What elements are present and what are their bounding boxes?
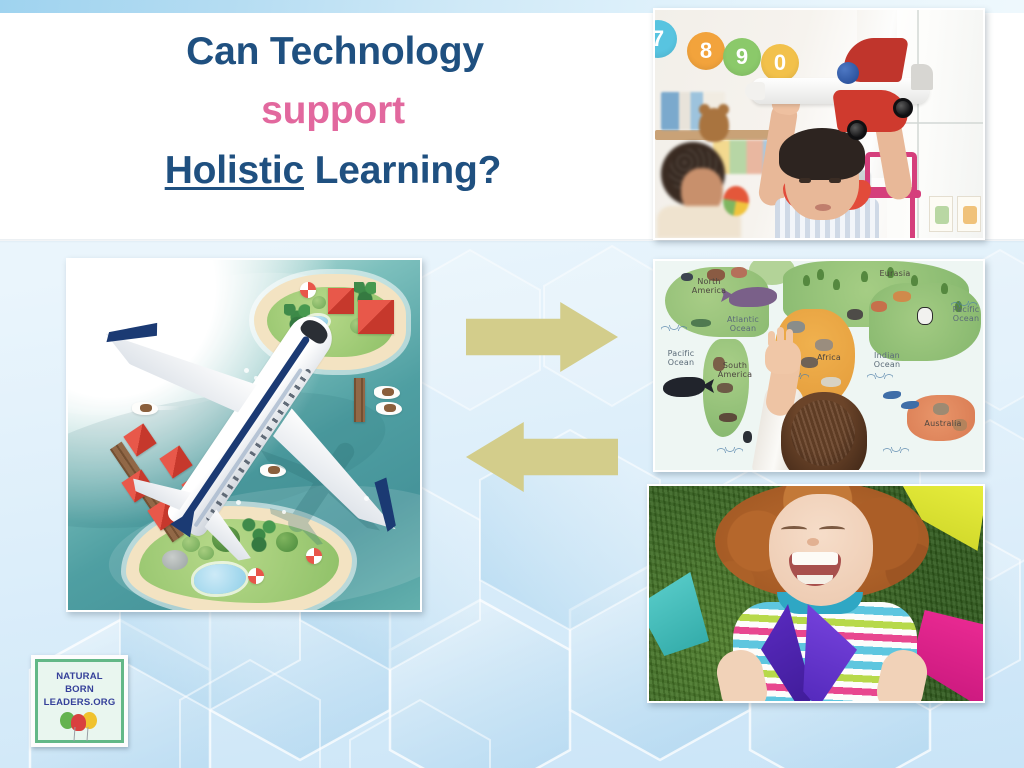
toy-airplane bbox=[751, 38, 931, 132]
maraca-toy bbox=[723, 186, 749, 216]
sea-foam bbox=[254, 376, 258, 380]
logo-natural-born-leaders[interactable]: NATURAL BORN LEADERS.ORG bbox=[31, 655, 128, 747]
finger bbox=[777, 327, 784, 343]
animal-fox bbox=[871, 301, 887, 312]
eye-left bbox=[799, 178, 811, 183]
toy-wheel bbox=[847, 120, 867, 140]
arrow-left[interactable] bbox=[466, 422, 618, 492]
tree bbox=[833, 279, 840, 290]
wave-lines bbox=[867, 373, 893, 379]
map-label-north-america: North America bbox=[679, 277, 739, 295]
map-label-atlantic-ocean: Atlantic Ocean bbox=[723, 315, 763, 333]
child-pointing-at-map bbox=[741, 352, 867, 470]
title-underlined-word: Holistic bbox=[165, 149, 304, 192]
tree bbox=[941, 283, 948, 294]
hand bbox=[765, 340, 801, 374]
beach-umbrella bbox=[300, 282, 316, 298]
eye-right bbox=[829, 178, 841, 183]
animal-koala bbox=[933, 403, 949, 415]
hair-back-of-head bbox=[781, 392, 867, 470]
animal-buffalo bbox=[847, 309, 863, 320]
photo-canvas bbox=[649, 486, 983, 701]
classroom-background: 7 8 9 0 bbox=[655, 10, 983, 238]
page-title: Can Technology support Holistic Learning… bbox=[48, 22, 618, 200]
animal-elephant bbox=[815, 339, 833, 351]
animal-tiger bbox=[893, 291, 911, 302]
nose bbox=[807, 538, 819, 546]
number-balloon: 8 bbox=[687, 32, 725, 70]
slide-canvas: Can Technology support Holistic Learning… bbox=[0, 0, 1024, 768]
building-red-roof bbox=[358, 300, 394, 334]
wall-card bbox=[929, 196, 953, 232]
orca bbox=[663, 377, 705, 397]
toy-tail bbox=[911, 64, 933, 90]
rocks bbox=[162, 550, 188, 570]
wall-card bbox=[957, 196, 981, 232]
map-label-pacific-ocean-right: Pacific Ocean bbox=[945, 305, 983, 323]
tree bbox=[817, 269, 824, 280]
illustration-plane-over-islands[interactable] bbox=[66, 258, 422, 612]
title-line-1: Can Technology bbox=[48, 22, 618, 81]
photo-canvas: 7 8 9 0 bbox=[655, 10, 983, 238]
finger bbox=[768, 331, 775, 347]
animal-llama bbox=[717, 383, 733, 393]
finger bbox=[786, 329, 793, 345]
title-line-3: Holistic Learning? bbox=[48, 141, 618, 200]
title-line-2: support bbox=[48, 81, 618, 140]
illustration-canvas bbox=[68, 260, 420, 610]
map-label-pacific-ocean-left: Pacific Ocean bbox=[659, 349, 703, 367]
logo-frame: NATURAL BORN LEADERS.ORG bbox=[35, 659, 124, 743]
map-label-indian-ocean: Indian Ocean bbox=[865, 351, 909, 369]
logo-line-2: BORN bbox=[65, 684, 94, 697]
toy-wheel bbox=[893, 98, 913, 118]
photo-toy-plane-classroom[interactable]: 7 8 9 0 bbox=[653, 8, 985, 240]
sea-foam bbox=[364, 496, 369, 501]
animal-anteater bbox=[719, 413, 737, 422]
eye-right-closed bbox=[819, 526, 845, 533]
sea-foam bbox=[244, 368, 249, 373]
number-balloon: 7 bbox=[655, 20, 677, 58]
tree bbox=[803, 275, 810, 286]
map-label-eurasia: Eurasia bbox=[871, 269, 919, 278]
building-red-roof bbox=[328, 288, 354, 314]
wave-lines bbox=[883, 447, 909, 453]
paper-plane-right-fold bbox=[801, 604, 857, 701]
wave-lines bbox=[717, 447, 743, 453]
eye-left-closed bbox=[781, 526, 807, 533]
logo-balloons-icon bbox=[60, 712, 100, 740]
chair-leg bbox=[910, 196, 915, 238]
wall-card-art bbox=[935, 206, 949, 224]
photo-girl-paper-airplane[interactable] bbox=[647, 484, 985, 703]
dolphin bbox=[883, 391, 901, 399]
arrow-right[interactable] bbox=[466, 302, 618, 372]
tree bbox=[861, 271, 868, 282]
sea-foam bbox=[282, 510, 286, 514]
photo-canvas: North America South America Atlantic Oce… bbox=[655, 261, 983, 470]
teddy-bear bbox=[699, 108, 729, 142]
title-accent-word: support bbox=[261, 89, 405, 132]
title-line-3-rest: Learning? bbox=[304, 149, 501, 192]
balloon-strings bbox=[73, 727, 88, 741]
paper-plane-purple bbox=[761, 604, 857, 701]
toy-nose bbox=[745, 82, 765, 100]
map-label-australia: Australia bbox=[919, 419, 967, 428]
animal-alligator bbox=[691, 319, 711, 327]
mouth bbox=[815, 204, 831, 211]
sea-foam bbox=[236, 500, 241, 505]
wave-lines bbox=[661, 325, 687, 331]
map-background: North America South America Atlantic Oce… bbox=[655, 261, 983, 470]
photo-child-world-map[interactable]: North America South America Atlantic Oce… bbox=[653, 259, 985, 472]
logo-line-1: NATURAL bbox=[56, 671, 103, 684]
toy-blue-knob bbox=[837, 62, 859, 84]
wall-card-art bbox=[963, 206, 977, 224]
animal-panda bbox=[917, 307, 933, 325]
logo-line-3: LEADERS.ORG bbox=[44, 697, 116, 710]
face bbox=[769, 494, 873, 606]
